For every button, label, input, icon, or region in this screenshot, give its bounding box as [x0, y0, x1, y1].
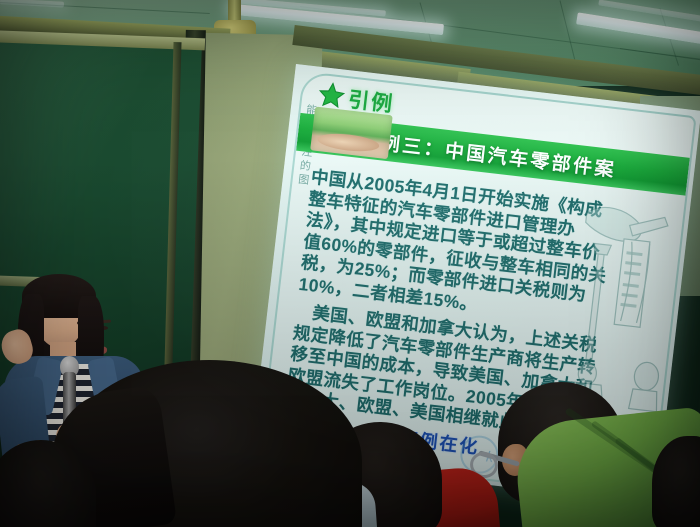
green-star-icon [317, 81, 346, 110]
ceiling-tile-seam [620, 48, 700, 62]
ceiling-fan-rod [228, 0, 241, 22]
slide-heading: 引例 [347, 83, 396, 118]
lecture-hall-photo: 引例 案例三：中国汽车零部件案 [0, 0, 700, 527]
